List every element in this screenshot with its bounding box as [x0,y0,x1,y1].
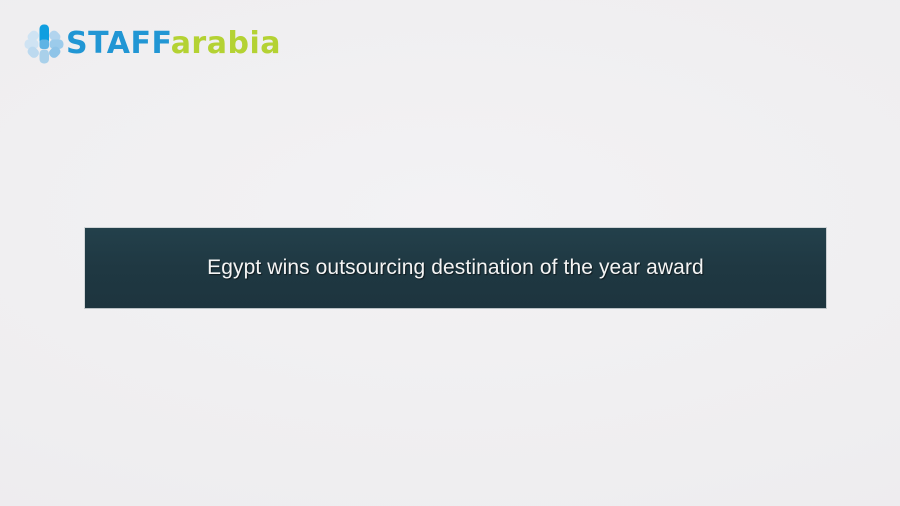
page-title: Egypt wins outsourcing destination of th… [187,256,724,280]
brand-wordmark-primary: STAFF [66,26,171,61]
brand-wordmark-secondary: arabia [171,26,281,61]
brand-wordmark: STAFFarabia [66,24,281,64]
slide-canvas: STAFFarabia Egypt wins outsourcing desti… [0,0,900,506]
brand-logo[interactable]: STAFFarabia [18,20,268,68]
snowflake-pinwheel-icon [22,22,66,66]
title-banner: Egypt wins outsourcing destination of th… [84,227,827,309]
